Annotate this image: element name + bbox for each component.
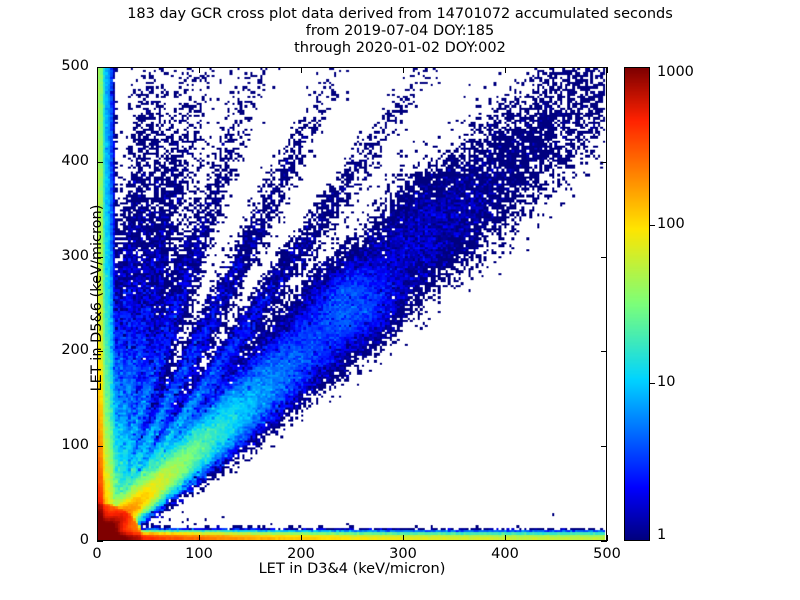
y-tick [601, 162, 607, 163]
y-tick-label: 500 [29, 58, 89, 74]
colorbar-tick-label: 1 [657, 527, 727, 543]
x-tick [199, 535, 200, 541]
y-tick [601, 351, 607, 352]
x-tick-label: 100 [169, 546, 229, 562]
y-axis-label: LET in D5&6 (keV/micron) [89, 61, 105, 535]
colorbar-gradient [625, 68, 649, 540]
colorbar-tick [650, 383, 655, 384]
colorbar-tick-label: 100 [657, 216, 727, 232]
x-axis-label: LET in D3&4 (keV/micron) [97, 561, 607, 577]
x-tick [607, 67, 608, 73]
y-tick-label: 100 [29, 437, 89, 453]
y-tick [601, 446, 607, 447]
y-tick [601, 67, 607, 68]
title-line-1: 183 day GCR cross plot data derived from… [0, 6, 800, 23]
title-line-3: through 2020-01-02 DOY:002 [0, 40, 800, 57]
y-tick [601, 257, 607, 258]
x-tick-label: 300 [373, 546, 433, 562]
colorbar-tick-label: 10 [657, 374, 727, 390]
plot-page: 183 day GCR cross plot data derived from… [0, 0, 800, 600]
y-tick-label: 0 [29, 532, 89, 548]
x-tick [403, 535, 404, 541]
x-tick [403, 67, 404, 73]
plot-area [97, 67, 607, 541]
x-tick [301, 535, 302, 541]
x-tick-label: 0 [67, 546, 127, 562]
x-tick-label: 400 [475, 546, 535, 562]
y-tick-label: 400 [29, 153, 89, 169]
y-tick [601, 541, 607, 542]
x-tick [301, 67, 302, 73]
y-tick-label: 200 [29, 342, 89, 358]
x-tick-label: 500 [577, 546, 637, 562]
title-line-2: from 2019-07-04 DOY:185 [0, 23, 800, 40]
x-tick [505, 535, 506, 541]
colorbar [624, 67, 650, 541]
x-tick [607, 535, 608, 541]
x-tick [505, 67, 506, 73]
colorbar-tick-label: 1000 [657, 64, 727, 80]
density-scatter-canvas [98, 68, 606, 540]
y-tick [97, 541, 103, 542]
chart-title: 183 day GCR cross plot data derived from… [0, 6, 800, 57]
x-tick-label: 200 [271, 546, 331, 562]
x-tick [199, 67, 200, 73]
colorbar-tick [650, 225, 655, 226]
y-tick-label: 300 [29, 248, 89, 264]
